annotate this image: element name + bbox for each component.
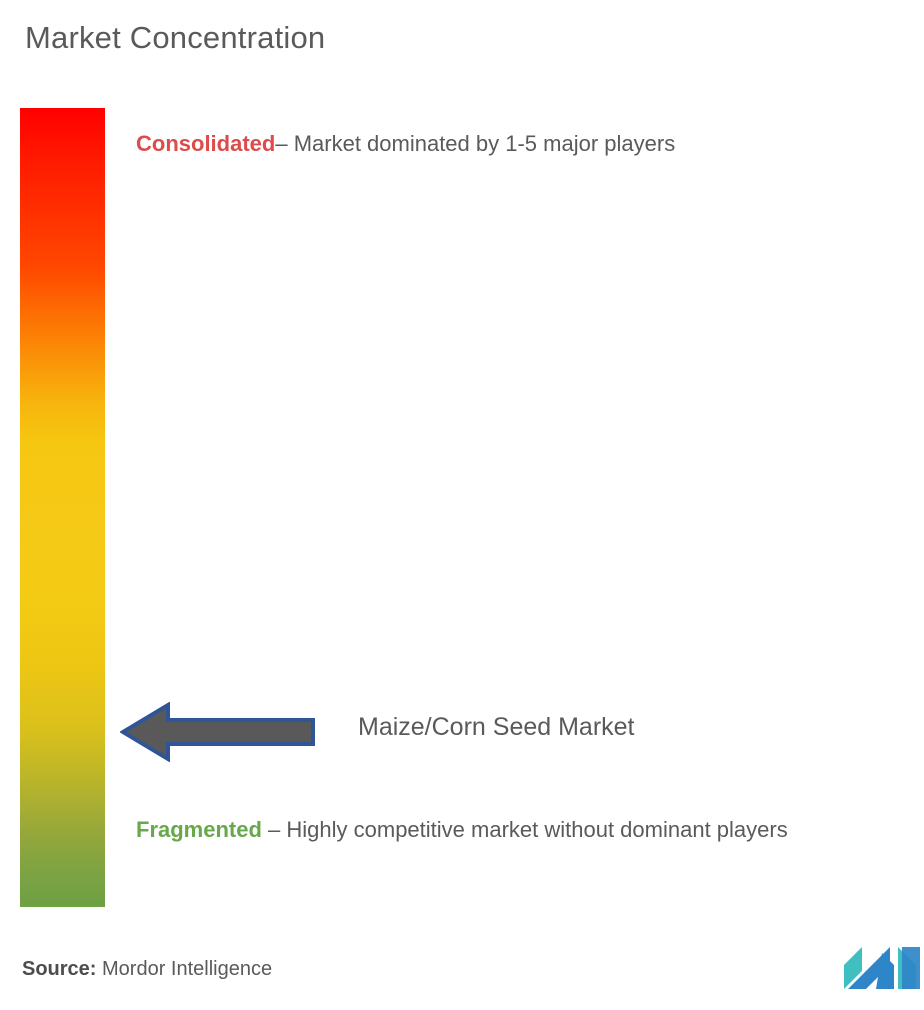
mi-monogram-icon <box>842 945 924 991</box>
legend-consolidated: Consolidated– Market dominated by 1-5 ma… <box>136 127 675 161</box>
mordor-intelligence-logo <box>842 945 924 991</box>
legend-fragmented-keyword: Fragmented <box>136 817 262 842</box>
legend-consolidated-keyword: Consolidated <box>136 131 275 156</box>
legend-fragmented-description: – Highly competitive market without domi… <box>262 817 788 842</box>
market-name-label: Maize/Corn Seed Market <box>358 713 635 742</box>
left-arrow-icon <box>120 702 316 762</box>
market-position-arrow <box>120 702 316 762</box>
concentration-gradient-scale <box>20 108 105 907</box>
legend-consolidated-description: – Market dominated by 1-5 major players <box>275 131 675 156</box>
source-label: Source: <box>22 958 96 980</box>
page-title: Market Concentration <box>25 20 325 56</box>
source-attribution: Source: Mordor Intelligence <box>22 958 272 981</box>
source-value: Mordor Intelligence <box>96 958 272 980</box>
legend-fragmented: Fragmented – Highly competitive market w… <box>136 800 896 860</box>
